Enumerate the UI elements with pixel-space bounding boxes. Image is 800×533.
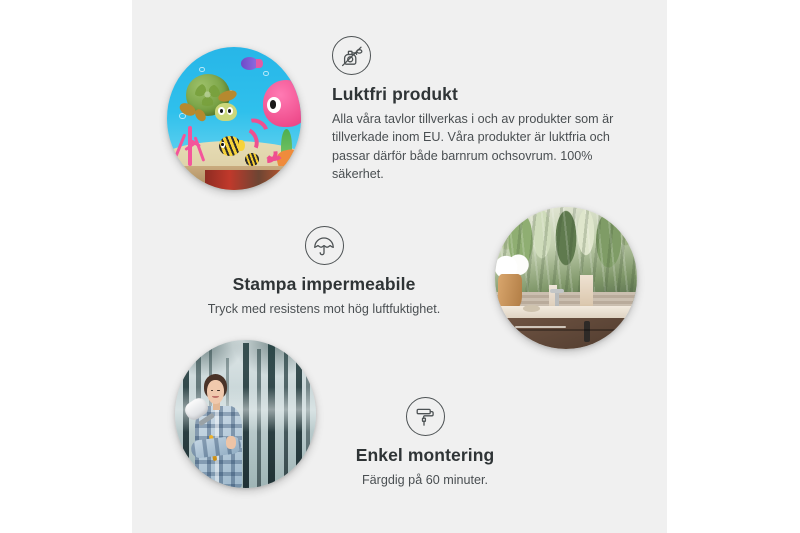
- turtle-eye: [218, 107, 224, 115]
- bubble-icon: [263, 71, 268, 76]
- faucet-icon: [555, 289, 559, 307]
- woman-figure: [188, 370, 264, 488]
- feature-body: Färgdig på 60 minuter.: [300, 471, 550, 489]
- feature-heading: Stampa impermeabile: [183, 274, 465, 295]
- infographic-stage: Luktfri produkt Alla våra tavlor tillver…: [0, 0, 800, 533]
- bathroom-scene: [495, 207, 637, 349]
- face: [207, 380, 224, 404]
- photo-strip: [205, 170, 301, 190]
- octopus-icon: [263, 80, 301, 127]
- feature-heading: Luktfri produkt: [332, 84, 622, 105]
- bubble-icon: [199, 67, 204, 72]
- umbrella-icon: [305, 226, 344, 265]
- underwater-cartoon-mural-thumbnail[interactable]: [167, 47, 301, 190]
- feature-odour-free-copy: Luktfri produkt Alla våra tavlor tillver…: [332, 36, 622, 183]
- small-fish-icon: [245, 153, 260, 166]
- feature-easy-mounting-copy: Enkel montering Färgdig på 60 minuter.: [300, 397, 550, 489]
- bottle-icon: [580, 275, 593, 309]
- woman-paint-roller-forest-thumbnail[interactable]: [175, 340, 316, 488]
- no-fragrance-icon: [332, 36, 371, 75]
- wood-cabinet: [506, 318, 637, 349]
- feature-heading: Enkel montering: [300, 445, 550, 466]
- bathroom-vanity-leaf-mural-thumbnail[interactable]: [495, 207, 637, 349]
- butterfly-fish-icon: [219, 136, 240, 156]
- hand: [226, 436, 236, 449]
- underwater-scene: [167, 47, 301, 190]
- feature-body: Alla våra tavlor tillverkas i och av pro…: [332, 110, 622, 183]
- paint-roller-icon: [406, 397, 445, 436]
- forest-scene: [175, 340, 316, 488]
- drawer-seam: [506, 329, 637, 331]
- feature-waterproof-copy: Stampa impermeabile Tryck med resistens …: [183, 226, 465, 318]
- turtle-eye: [227, 107, 233, 115]
- turtle-head: [215, 103, 236, 122]
- coral-icon: [172, 126, 212, 166]
- octopus-eye: [267, 97, 281, 113]
- feature-body: Tryck med resistens mot hög luftfuktighe…: [183, 300, 465, 318]
- vase-icon: [498, 274, 522, 311]
- purple-fish-icon: [241, 57, 258, 70]
